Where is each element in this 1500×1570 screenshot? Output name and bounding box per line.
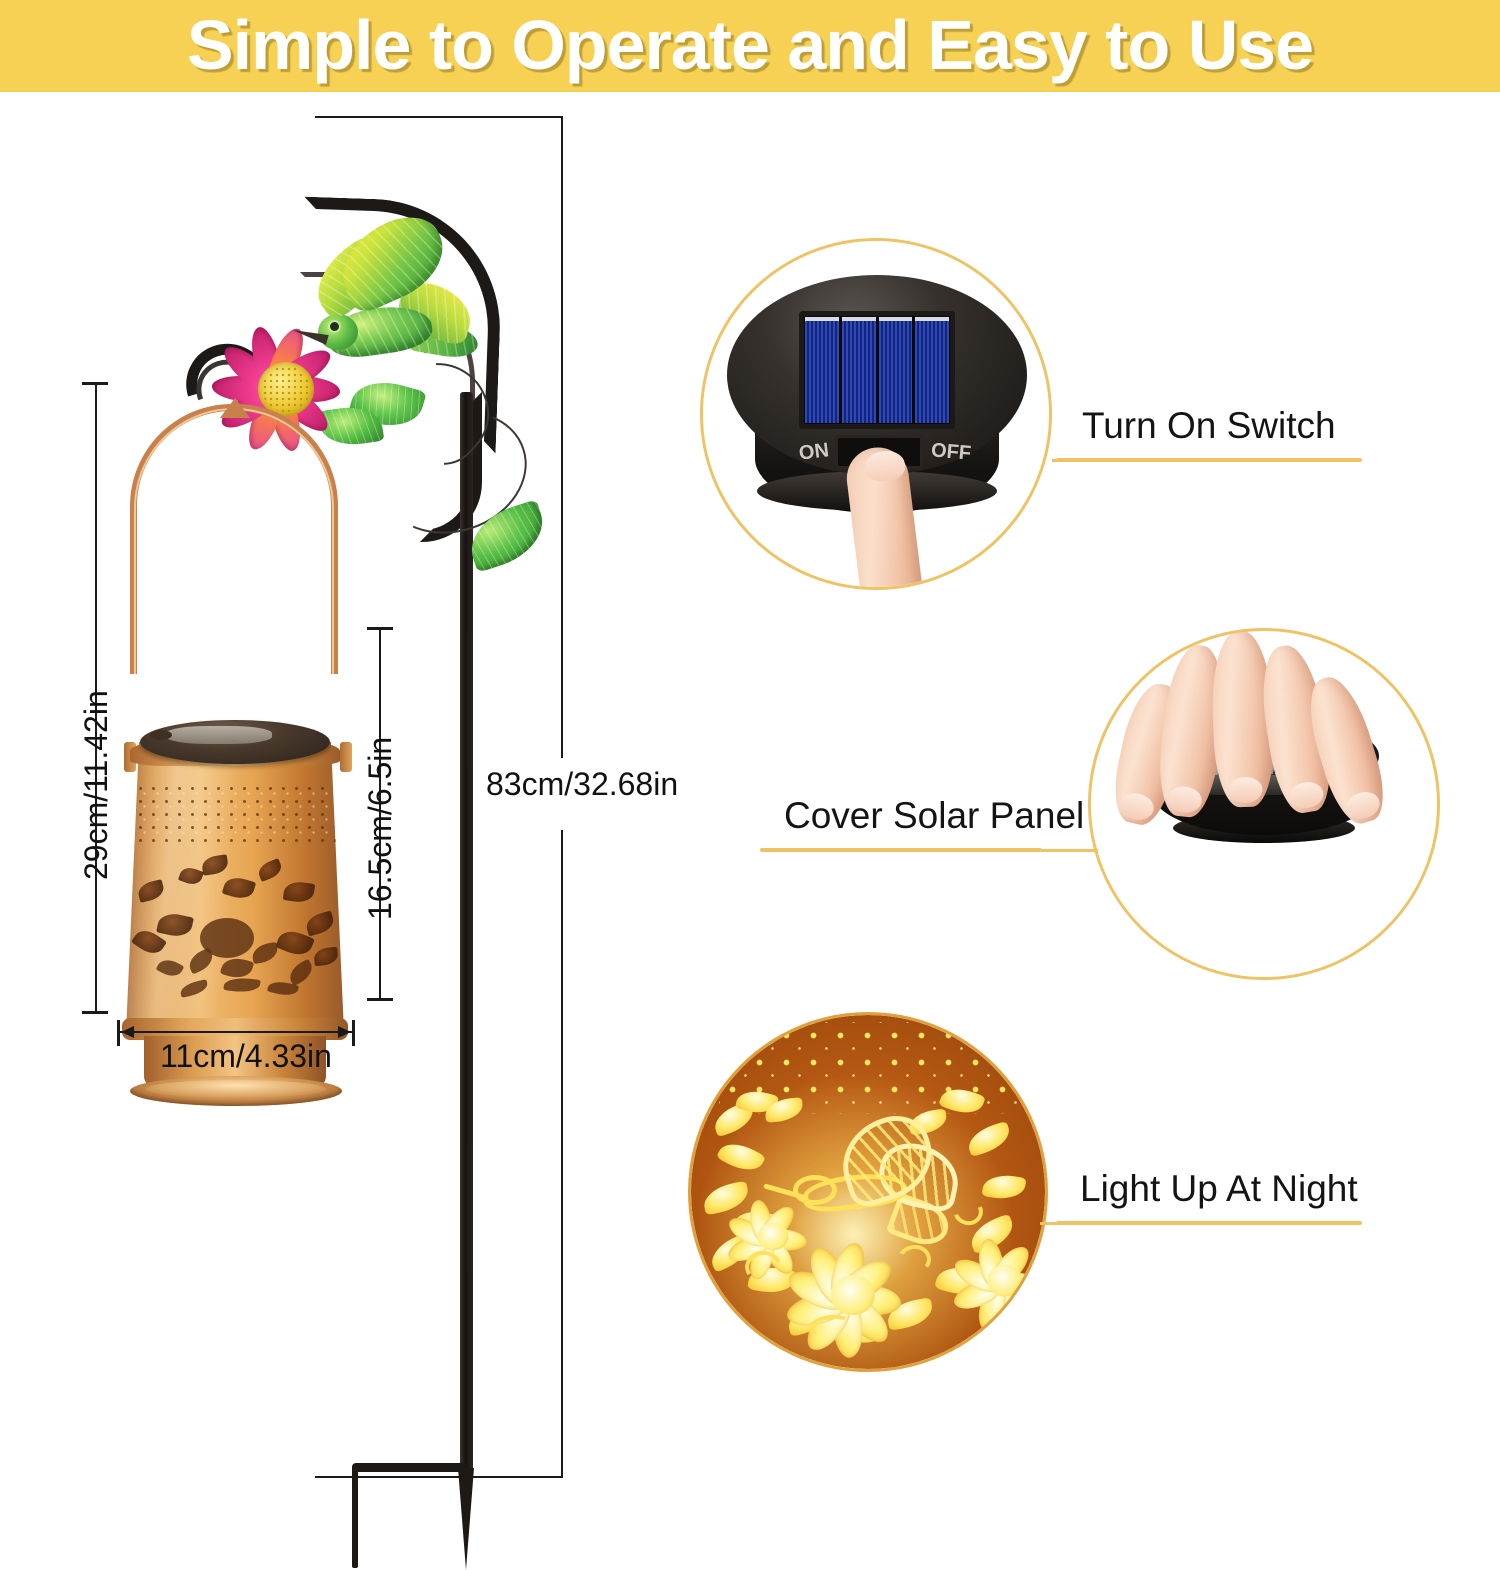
callout-light-up-at-night-image	[688, 1012, 1048, 1372]
glowing-pattern-icon	[691, 1015, 1045, 1369]
dimension-label: 29cm/11.42in	[78, 690, 115, 880]
callout-label-cover-solar-panel: Cover Solar Panel	[784, 795, 1084, 837]
callout-underline	[1056, 1221, 1362, 1225]
callout-cover-solar-panel-image	[1088, 628, 1440, 980]
callout-underline	[1056, 458, 1362, 462]
callout-label-turn-on-switch: Turn On Switch	[1082, 405, 1336, 447]
solar-lantern	[108, 390, 368, 1110]
switch-on-label: ON	[798, 439, 831, 465]
dimension-label: 16.5cm/6.5in	[362, 737, 399, 920]
solar-cap-closeup: ON OFF	[727, 275, 1027, 525]
callout-label-light-up-at-night: Light Up At Night	[1080, 1168, 1358, 1210]
stake-pole	[460, 392, 473, 1482]
star-cutout-band	[134, 782, 336, 844]
solar-panel-icon	[166, 726, 272, 744]
callout-connector	[1036, 849, 1098, 852]
solar-panel-icon	[799, 311, 955, 429]
hummingbird-icon	[286, 220, 486, 390]
switch-off-label: OFF	[930, 439, 972, 465]
dimension-label: 83cm/32.68in	[486, 766, 678, 803]
lotus-flower-icon	[952, 1237, 1048, 1320]
floral-cutout-band	[128, 848, 342, 1006]
page-title: Simple to Operate and Easy to Use	[0, 5, 1500, 85]
callout-turn-on-switch-image: ON OFF	[700, 238, 1052, 590]
callout-underline	[760, 848, 1042, 852]
header-banner: Simple to Operate and Easy to Use	[0, 0, 1500, 92]
dimension-label: 11cm/4.33in	[160, 1038, 332, 1075]
